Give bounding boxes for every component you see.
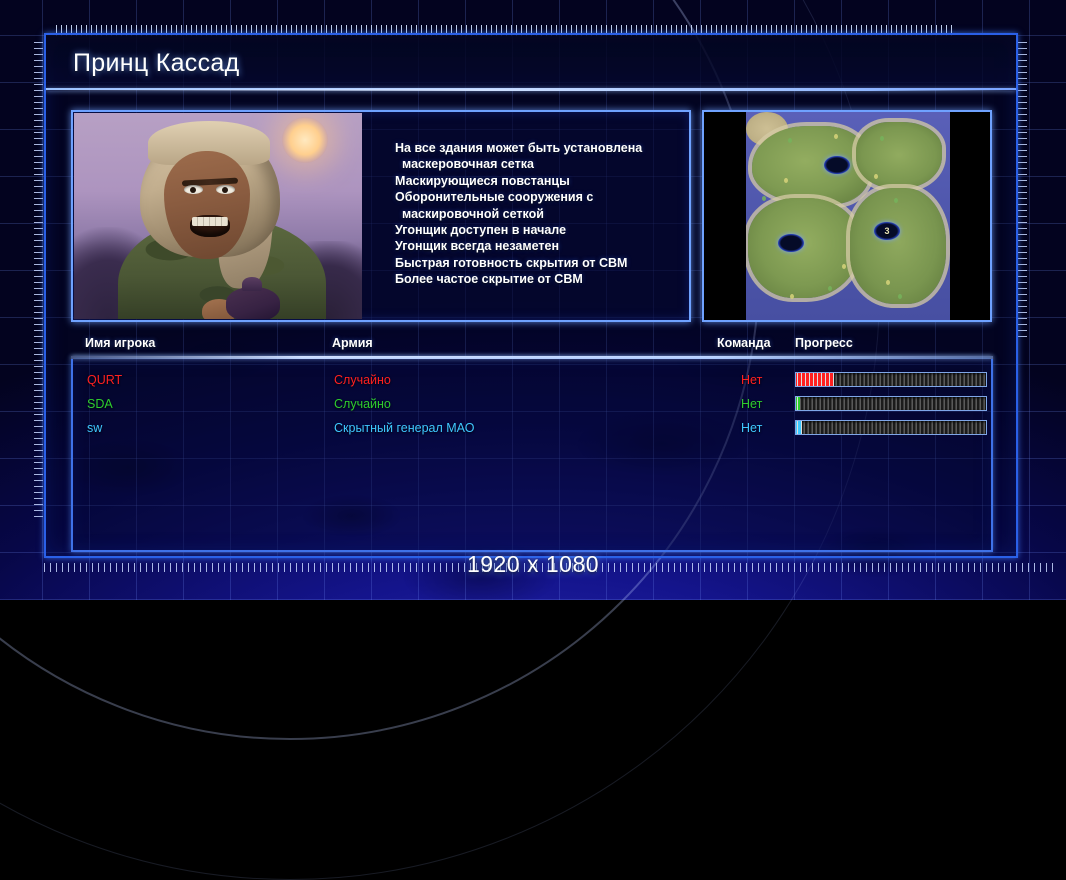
spawn-point-3: 3 [874,222,900,240]
table-row[interactable]: SDAСлучайноНет [73,393,991,417]
island-southwest [748,198,860,298]
progress-bar [795,396,987,411]
map-prop [842,264,846,269]
teapot-lid [242,277,262,291]
island-southeast [850,188,946,304]
page-title: Принц Кассад [73,49,239,78]
player-rows-container: QURTСлучайноНетSDAСлучайноНетswСкрытный … [71,359,993,552]
progress-bar [795,420,987,435]
portrait-eye-left [184,185,203,194]
minimap-panel: 3 [702,110,992,322]
player-list: Имя игрока Армия Команда Прогресс QURTСл… [71,336,993,552]
player-name: QURT [87,373,122,387]
portrait-head [150,131,266,281]
bonus-line: На все здания может быть установлена [395,140,683,156]
portrait-eye-right [216,185,235,194]
bonus-line: маскеровочная сетка [395,156,683,172]
island-northwest [752,126,870,204]
progress-bar-fill [796,373,834,386]
bonus-line: Оборонительные сооружения с [395,189,683,205]
map-prop [834,134,838,139]
progress-bar-fill [796,397,800,410]
portrait-teeth [192,217,228,226]
column-header-army: Армия [332,336,373,350]
island-northeast [856,122,942,188]
ruler-right-decoration [1018,42,1027,337]
player-name: SDA [87,397,113,411]
ruler-left-decoration [34,42,43,522]
map-prop [784,178,788,183]
player-army: Случайно [334,373,391,387]
map-prop [880,136,884,141]
bonus-line: Угонщик доступен в начале [395,222,683,238]
column-header-team: Команда [717,336,771,350]
player-team: Нет [741,373,762,387]
column-header-name: Имя игрока [85,336,155,350]
player-army: Случайно [334,397,391,411]
general-info-panel: На все здания может быть установленамаск… [71,110,691,322]
progress-bar [795,372,987,387]
map-prop [894,198,898,203]
resolution-label: 1920 x 1080 [0,551,1066,578]
portrait-pupil-left [190,187,196,193]
title-underline [46,89,1016,91]
column-header-progress: Прогресс [795,336,853,350]
table-row[interactable]: swСкрытный генерал МАОНет [73,417,991,441]
map-prop [788,138,792,143]
table-row[interactable]: QURTСлучайноНет [73,369,991,393]
player-name: sw [87,421,102,435]
map-prop [874,174,878,179]
spawn-point-2 [778,234,804,252]
sun-icon [282,117,328,163]
map-prop [886,280,890,285]
player-list-header: Имя игрока Армия Команда Прогресс [71,336,993,358]
bonus-line: Более частое скрытие от CBM [395,271,683,287]
bonus-line: Маскирующиеся повстанцы [395,173,683,189]
map-prop [828,286,832,291]
map-prop [762,196,766,201]
bonus-line: Угонщик всегда незаметен [395,238,683,254]
teapot-icon [226,287,280,319]
general-portrait [74,113,362,319]
bonus-line: маскировочной сеткой [395,206,683,222]
player-team: Нет [741,421,762,435]
map-prop [790,294,794,299]
player-army: Скрытный генерал МАО [334,421,474,435]
progress-bar-fill [796,421,802,434]
general-bonus-list: На все здания может быть установленамаск… [395,140,683,288]
map-prop [898,294,902,299]
minimap-image: 3 [746,112,950,320]
player-team: Нет [741,397,762,411]
bonus-line: Быстрая готовность скрытия от CBM [395,255,683,271]
spawn-point-1 [824,156,850,174]
game-lobby-screen: Принц Кассад [0,0,1066,600]
portrait-pupil-right [222,187,228,193]
